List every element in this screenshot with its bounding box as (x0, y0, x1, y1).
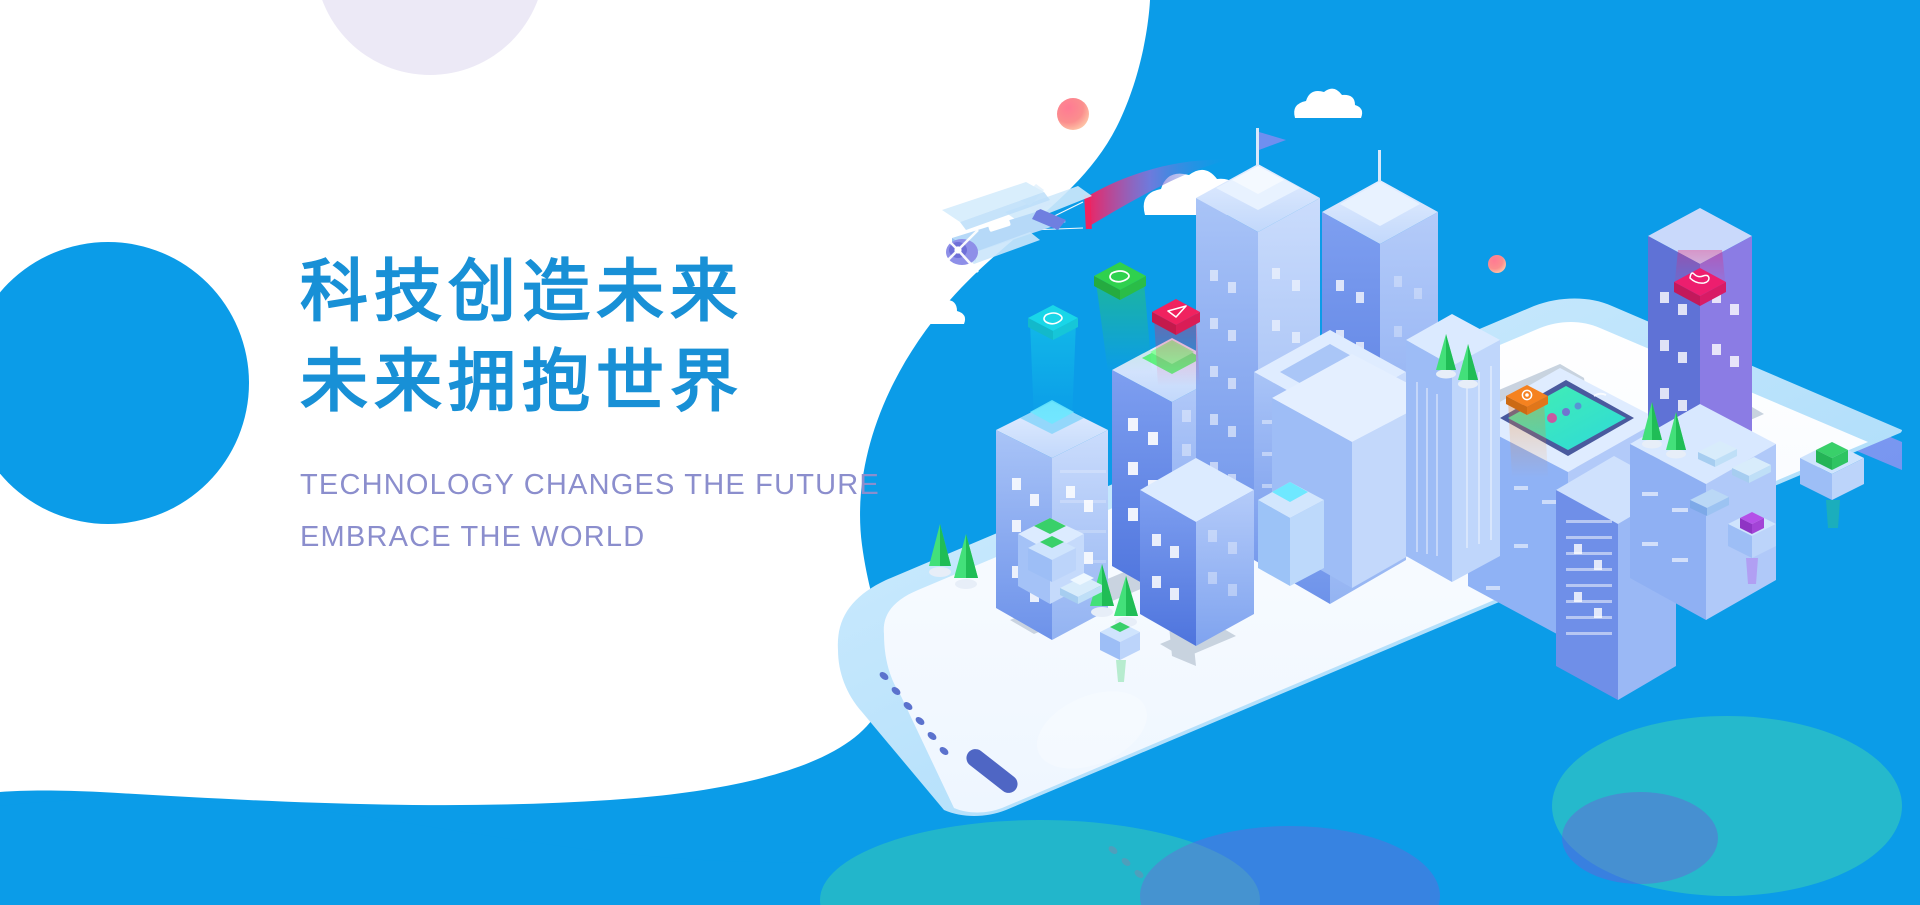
subtitle-line-2: EMBRACE THE WORLD (300, 515, 900, 561)
tree (929, 524, 951, 577)
subtitle-line-1: TECHNOLOGY CHANGES THE FUTURE (300, 463, 900, 509)
banner-root: 科技创造未来 未来拥抱世界 TECHNOLOGY CHANGES THE FUT… (0, 0, 1920, 905)
cloud-icon (1294, 89, 1362, 118)
coral-sphere (1057, 98, 1089, 130)
glow-cube-green (1800, 442, 1864, 528)
isometric-city-illustration (0, 0, 1920, 905)
cloud-icon (895, 294, 965, 324)
text-block: 科技创造未来 未来拥抱世界 TECHNOLOGY CHANGES THE FUT… (300, 248, 900, 561)
airplane-icon (936, 182, 1092, 272)
headline-line-2: 未来拥抱世界 (300, 338, 900, 428)
headline-line-1: 科技创造未来 (300, 248, 900, 338)
purple-ellipse (1562, 792, 1718, 884)
building (1406, 314, 1500, 582)
building-small (1258, 482, 1324, 586)
building (1140, 458, 1254, 646)
purple-ellipse-bottom (1140, 826, 1440, 905)
coral-sphere-small (1488, 255, 1506, 273)
